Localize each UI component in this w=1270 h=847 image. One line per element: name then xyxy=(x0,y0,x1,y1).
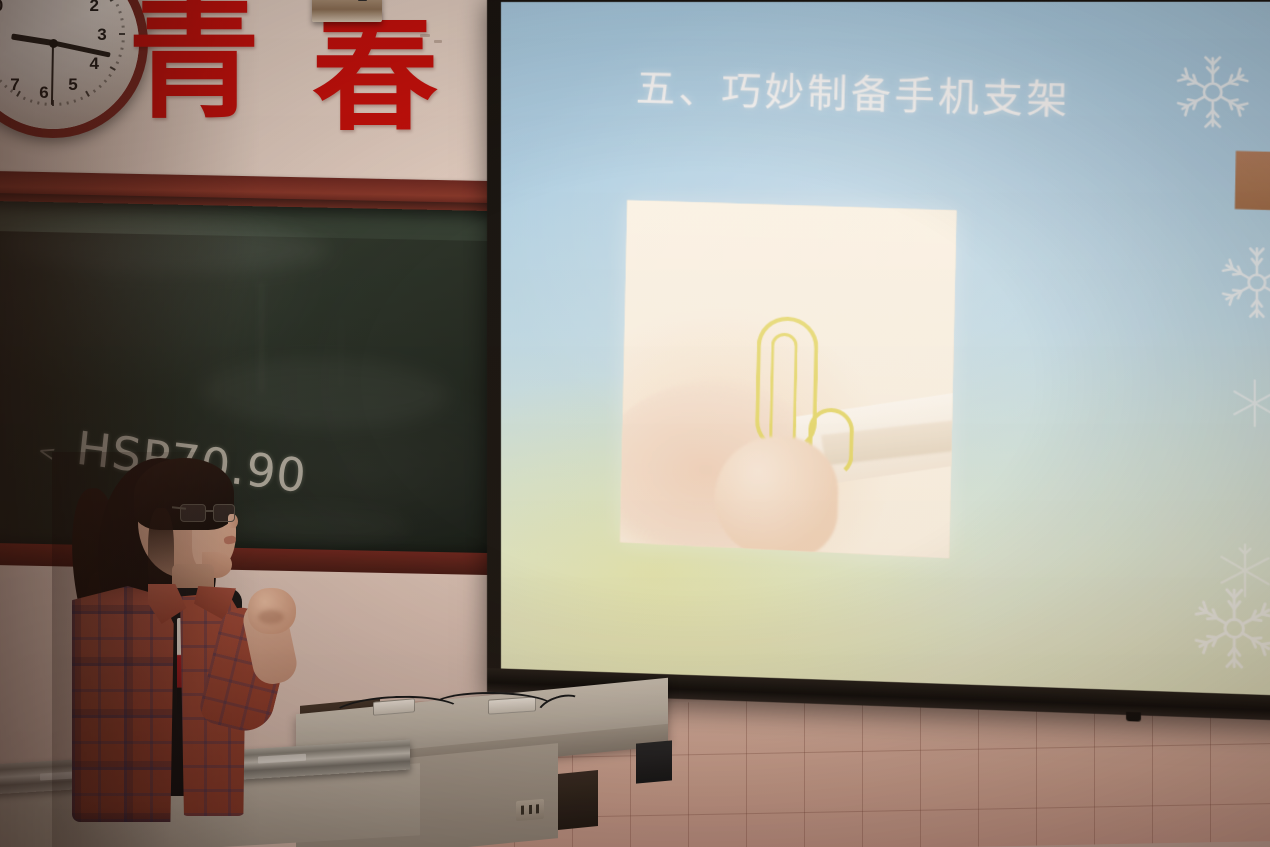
wall-outlet-icon xyxy=(516,799,544,821)
speaker-led-icon xyxy=(358,0,367,1)
podium-side-gap xyxy=(558,770,598,830)
fist-shadow xyxy=(258,610,284,624)
screen-damage-patch xyxy=(1235,151,1270,211)
snowflake-icon xyxy=(1227,376,1270,431)
snowflake-icon xyxy=(1216,243,1270,323)
slide-photo xyxy=(620,200,957,558)
glasses-lens-right-icon xyxy=(213,504,235,522)
slide-title: 五、巧妙制备手机支架 xyxy=(635,57,1071,126)
wall-banner-char-2: 春 xyxy=(312,12,438,138)
presenter xyxy=(52,452,322,847)
projection-screen: 五、巧妙制备手机支架 xyxy=(487,0,1270,721)
wall-scuff xyxy=(434,40,442,43)
wall-scuff xyxy=(420,34,430,37)
glasses-bridge-icon xyxy=(205,510,213,512)
wall-banner-char-1: 青 xyxy=(128,0,260,126)
photo-wash xyxy=(620,200,957,558)
clock-shading xyxy=(0,0,139,129)
classroom-photo-scene: 121234567891011 青 春 < HSP70.90 xyxy=(0,0,1270,847)
wall-speaker-icon xyxy=(312,0,382,22)
podium-monitor xyxy=(636,740,672,783)
snowflake-icon xyxy=(1173,54,1253,131)
snowflake-icon xyxy=(1188,582,1270,674)
presentation-slide: 五、巧妙制备手机支架 xyxy=(501,2,1270,698)
